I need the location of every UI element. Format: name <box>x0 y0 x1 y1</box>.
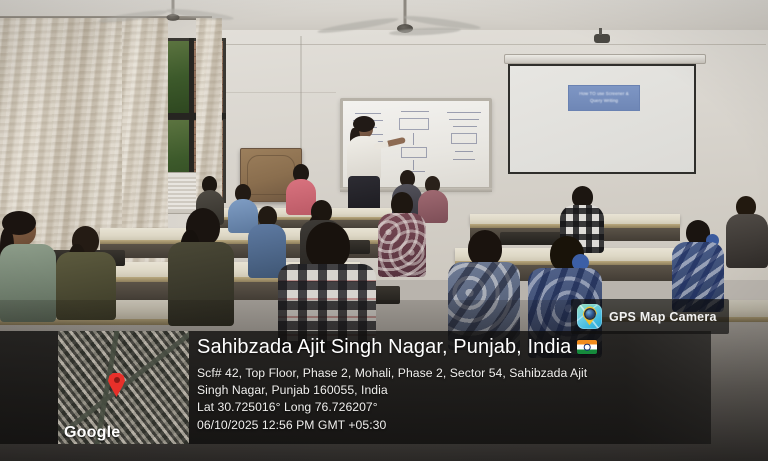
projector-slide-title-box: How TO use Screener & Query Writing <box>568 85 640 111</box>
student-right-front <box>672 220 724 310</box>
student-front-plaid <box>278 222 376 346</box>
projector-slide-text: How TO use Screener & Query Writing <box>579 91 629 105</box>
wall-trim-line <box>206 44 766 45</box>
location-title-text: Sahibzada Ajit Singh Nagar, Punjab, Indi… <box>197 336 571 358</box>
student-olive-top <box>56 226 116 318</box>
student-far-left <box>0 214 56 320</box>
coordinates-line: Lat 30.725016° Long 76.726207° <box>197 399 712 416</box>
projector-screen <box>508 64 696 174</box>
student-floral-dress <box>378 192 426 276</box>
slide-title-line-2: Query Writing <box>590 98 618 103</box>
address-line-1: Scf# 42, Top Floor, Phase 2, Mohali, Pha… <box>197 365 712 382</box>
projector-screen-valance <box>504 54 706 64</box>
ceiling-fan-left <box>118 0 228 36</box>
gps-map-camera-badge: GPS Map Camera <box>571 299 729 334</box>
satellite-map-thumbnail[interactable]: Google <box>58 331 189 444</box>
student-far-right <box>726 196 768 266</box>
student-front-dark-hair <box>168 208 234 324</box>
india-flag-icon <box>577 340 597 354</box>
location-text-block: Sahibzada Ajit Singh Nagar, Punjab, Indi… <box>197 336 712 434</box>
timestamp-line: 06/10/2025 12:56 PM GMT +05:30 <box>197 417 712 434</box>
address-line-2: Singh Nagar, Punjab 160055, India <box>197 382 712 399</box>
gps-map-pin-camera-icon <box>577 304 602 329</box>
gps-map-camera-photo: How TO use Screener & Query Writing <box>0 0 768 461</box>
ceiling-fan-center <box>345 0 465 40</box>
gps-map-camera-label: GPS Map Camera <box>609 310 717 324</box>
slide-title-line-1: How TO use Screener & <box>579 91 629 96</box>
location-title: Sahibzada Ajit Singh Nagar, Punjab, Indi… <box>197 336 712 360</box>
projector-ceiling-mount <box>594 34 610 43</box>
google-watermark: Google <box>64 424 120 442</box>
